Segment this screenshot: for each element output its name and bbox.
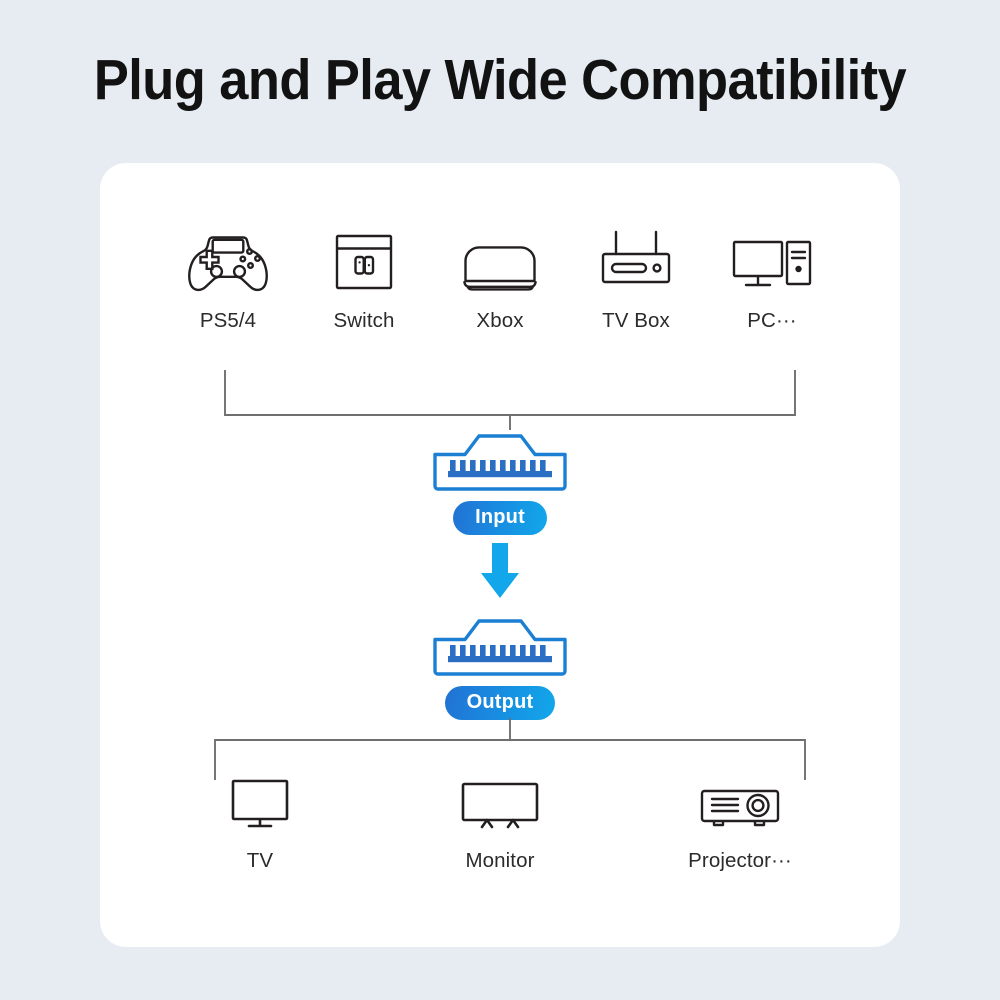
device-switch: Switch [296, 223, 432, 333]
hdmi-port-icon [429, 430, 571, 492]
input-sources-row: PS5/4 Switch [160, 223, 840, 333]
diagram-card: PS5/4 Switch [100, 163, 900, 947]
device-label: Monitor [465, 849, 534, 873]
device-label: Xbox [476, 309, 523, 333]
device-xbox: Xbox [432, 223, 568, 333]
input-bracket-connector [215, 370, 805, 435]
device-label: PS5/4 [200, 309, 256, 333]
console-box-icon [457, 223, 543, 295]
device-label: TV Box [602, 309, 670, 333]
hdmi-port-icon [429, 615, 571, 677]
device-label: PC··· [747, 309, 796, 333]
output-connector-group: Output [100, 615, 900, 720]
game-controller-icon [180, 223, 276, 295]
device-pc: PC··· [704, 223, 840, 333]
tv-box-router-icon [596, 223, 676, 295]
desktop-pc-icon [730, 223, 814, 295]
compatibility-infographic: Plug and Play Wide Compatibility [0, 0, 1000, 1000]
device-tv-box: TV Box [568, 223, 704, 333]
input-connector-group: Input [100, 430, 900, 535]
device-ps5: PS5/4 [160, 223, 296, 333]
device-monitor: Monitor [400, 771, 600, 873]
output-displays-row: TV Monitor [160, 771, 840, 873]
arrow-down-icon [100, 543, 900, 599]
monitor-icon [458, 771, 542, 833]
device-projector: Projector··· [640, 771, 840, 873]
projector-icon [697, 771, 783, 833]
device-label: Projector··· [688, 849, 792, 873]
device-label: Switch [334, 309, 395, 333]
device-tv: TV [160, 771, 360, 873]
switch-dock-icon [331, 223, 397, 295]
page-title: Plug and Play Wide Compatibility [40, 47, 960, 113]
tv-screen-icon [228, 771, 292, 833]
device-label: TV [247, 849, 273, 873]
input-badge: Input [453, 501, 547, 535]
output-badge: Output [445, 686, 556, 720]
